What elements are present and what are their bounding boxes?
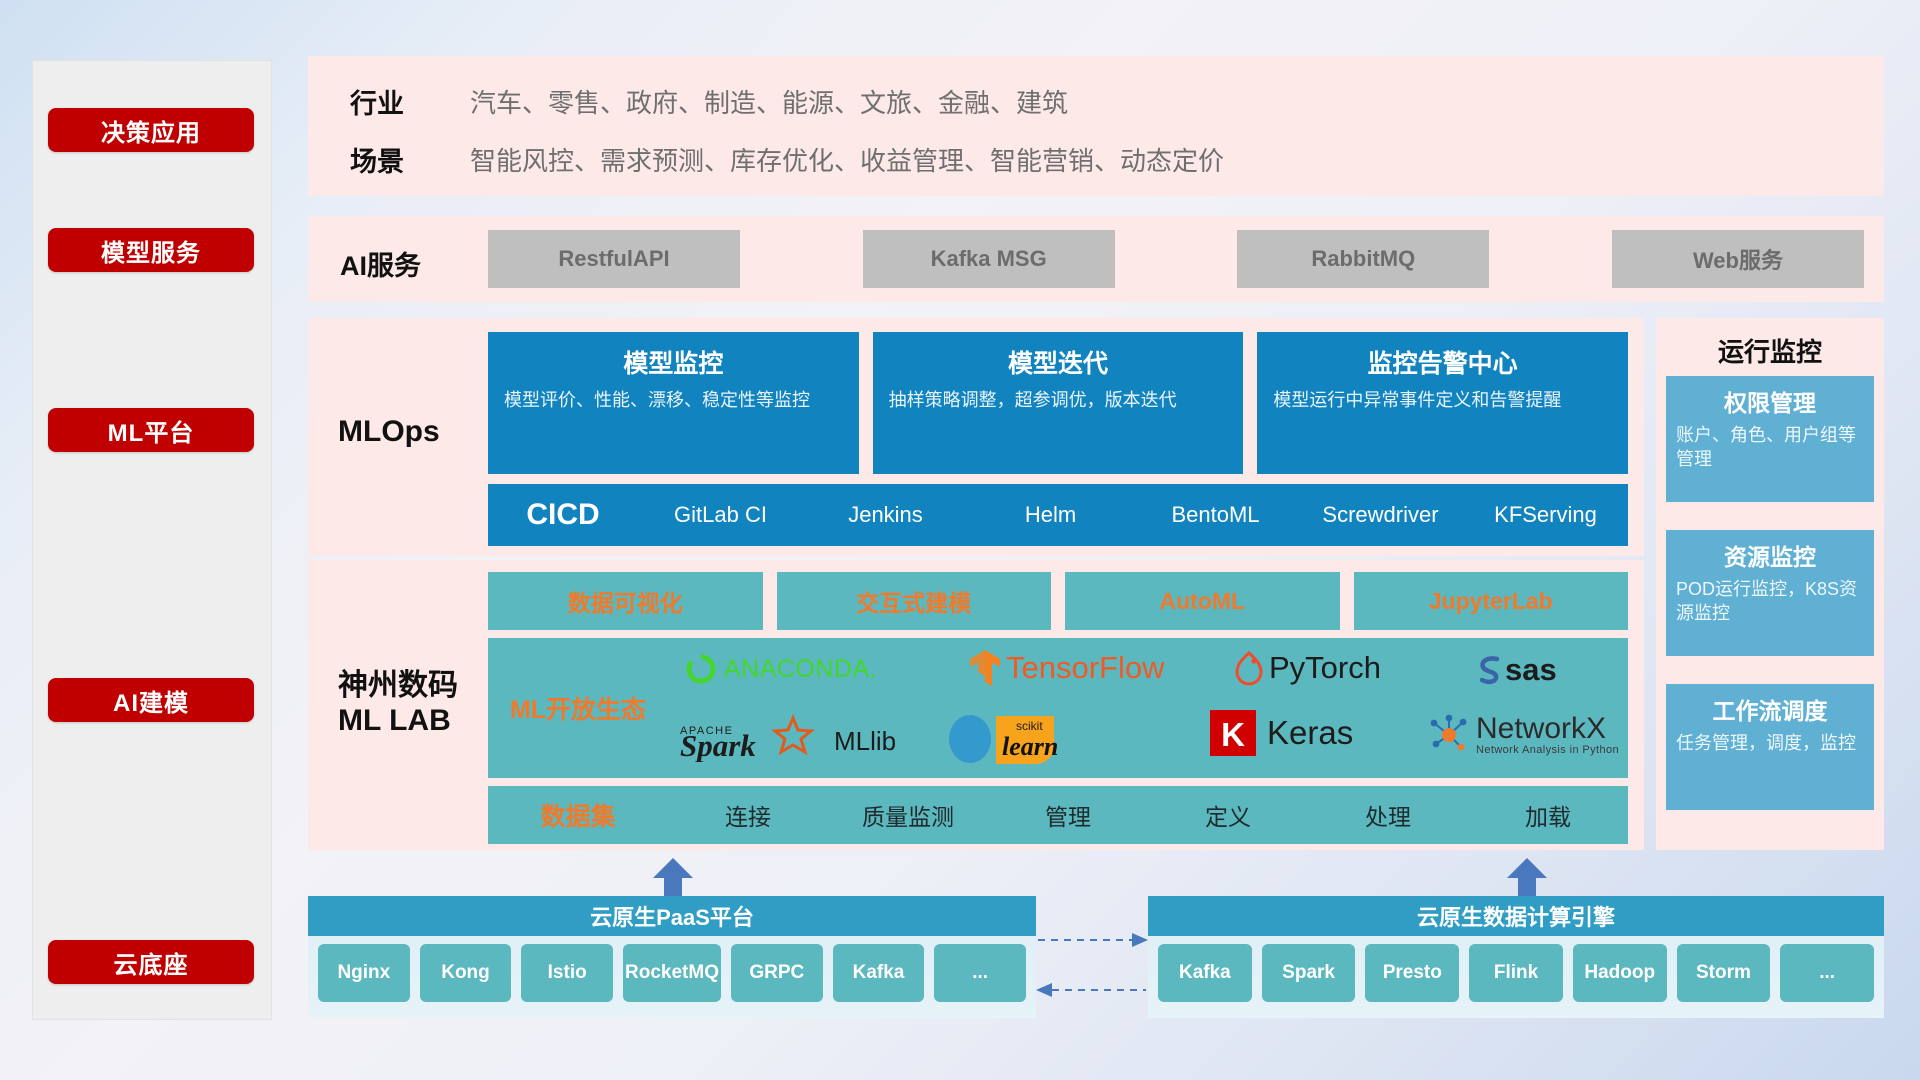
tool-chip-interactive-modeling[interactable]: 交互式建模 (777, 572, 1052, 630)
cicd-item-helm[interactable]: Helm (968, 503, 1133, 526)
sas-logo: sas (1474, 652, 1557, 688)
monitor-card-desc: POD运行监控，K8S资源监控 (1676, 578, 1864, 626)
pytorch-logo-text: PyTorch (1269, 650, 1381, 686)
svg-text:scikit: scikit (1016, 719, 1043, 733)
engine-chip-presto[interactable]: Presto (1365, 944, 1459, 1002)
monitor-card-workflow[interactable]: 工作流调度 任务管理，调度，监控 (1666, 684, 1874, 810)
cicd-title: CICD (488, 498, 638, 532)
anaconda-logo-text: ANACONDA (724, 655, 870, 684)
tensorflow-logo: TensorFlow (968, 648, 1165, 688)
dataset-item-quality-monitoring[interactable]: 质量监测 (828, 798, 988, 832)
ai-service-chip-kafka-msg[interactable]: Kafka MSG (863, 230, 1115, 288)
scenario-row: 场景 智能风控、需求预测、库存优化、收益管理、智能营销、动态定价 (350, 140, 1224, 179)
cicd-item-kfserving[interactable]: KFServing (1463, 503, 1628, 526)
dataset-item-process[interactable]: 处理 (1308, 798, 1468, 832)
ai-service-chip-list: RestfulAPI Kafka MSG RabbitMQ Web服务 (488, 230, 1864, 288)
ml-lab-section-label: 神州数码 ML LAB (338, 668, 458, 739)
networkx-logo-tagline: Network Analysis in Python (1476, 744, 1619, 756)
layer-chip-label: 云底座 (114, 945, 189, 980)
svg-text:learn: learn (1002, 732, 1058, 761)
sas-logo-text: sas (1505, 652, 1557, 688)
ml-lab-label-en: ML LAB (338, 703, 458, 738)
mlops-card-list: 模型监控 模型评价、性能、漂移、稳定性等监控 模型迭代 抽样策略调整，超参调优，… (488, 332, 1628, 474)
paas-chip-istio[interactable]: Istio (521, 944, 613, 1002)
industry-value: 汽车、零售、政府、制造、能源、文旅、金融、建筑 (470, 83, 1068, 120)
mlops-section-label: MLOps (338, 414, 440, 449)
cicd-item-screwdriver[interactable]: Screwdriver (1298, 503, 1463, 526)
paas-chip-grpc[interactable]: GRPC (731, 944, 823, 1002)
mlops-card-desc: 模型运行中异常事件定义和告警提醒 (1273, 388, 1612, 412)
engine-chip-list: Kafka Spark Presto Flink Hadoop Storm ..… (1158, 944, 1874, 1002)
dataset-item-load[interactable]: 加载 (1468, 798, 1628, 832)
svg-text:Spark: Spark (680, 728, 756, 762)
mlops-card-model-iteration[interactable]: 模型迭代 抽样策略调整，超参调优，版本迭代 (873, 332, 1244, 474)
layer-chip-label: ML平台 (108, 413, 195, 448)
scenario-value: 智能风控、需求预测、库存优化、收益管理、智能营销、动态定价 (470, 141, 1224, 178)
dataset-item-manage[interactable]: 管理 (988, 798, 1148, 832)
ml-lab-label-cn: 神州数码 (338, 668, 458, 703)
tensorflow-logo-text: TensorFlow (1006, 650, 1165, 686)
ai-service-chip-web-service[interactable]: Web服务 (1612, 230, 1864, 288)
ai-service-chip-rabbitmq[interactable]: RabbitMQ (1237, 230, 1489, 288)
cloud-native-paas-group: 云原生PaaS平台 Nginx Kong Istio RocketMQ GRPC… (308, 896, 1036, 1018)
mlops-card-title: 模型迭代 (889, 344, 1228, 380)
runtime-monitor-title: 运行监控 (1656, 332, 1884, 369)
cicd-item-jenkins[interactable]: Jenkins (803, 503, 968, 526)
engine-chip-flink[interactable]: Flink (1469, 944, 1563, 1002)
layer-chip-cloud-base[interactable]: 云底座 (48, 940, 254, 984)
engine-chip-kafka[interactable]: Kafka (1158, 944, 1252, 1002)
layer-rail (32, 60, 272, 1020)
cicd-item-gitlab-ci[interactable]: GitLab CI (638, 503, 803, 526)
tool-chip-automl[interactable]: AutoML (1065, 572, 1340, 630)
anaconda-logo: ANACONDA . (684, 652, 877, 686)
ml-lab-tool-list: 数据可视化 交互式建模 AutoML JupyterLab (488, 572, 1628, 630)
dataset-item-connect[interactable]: 连接 (668, 798, 828, 832)
layer-chip-label: AI建模 (113, 683, 189, 718)
paas-chip-nginx[interactable]: Nginx (318, 944, 410, 1002)
industry-key: 行业 (350, 82, 470, 121)
ai-service-chip-restfulapi[interactable]: RestfulAPI (488, 230, 740, 288)
dataset-item-define[interactable]: 定义 (1148, 798, 1308, 832)
monitor-card-resource[interactable]: 资源监控 POD运行监控，K8S资源监控 (1666, 530, 1874, 656)
ai-service-band: AI服务 RestfulAPI Kafka MSG RabbitMQ Web服务 (308, 216, 1884, 302)
ml-open-ecosystem-row: ML开放生态 ANACONDA . Te (488, 638, 1628, 778)
cloud-native-data-engine-title: 云原生数据计算引擎 (1148, 896, 1884, 936)
ml-lab-band: 神州数码 ML LAB 数据可视化 交互式建模 AutoML JupyterLa… (308, 560, 1644, 850)
engine-chip-storm[interactable]: Storm (1677, 944, 1771, 1002)
mlops-card-title: 监控告警中心 (1273, 344, 1612, 380)
cloud-link-arrows (1036, 928, 1148, 1004)
monitor-card-title: 权限管理 (1676, 384, 1864, 418)
layer-chip-model-service[interactable]: 模型服务 (48, 228, 254, 272)
mllib-logo-text: MLlib (834, 726, 896, 757)
networkx-logo-text: NetworkX (1476, 714, 1619, 744)
layer-chip-label: 模型服务 (101, 233, 201, 268)
layer-chip-ml-platform[interactable]: ML平台 (48, 408, 254, 452)
cloud-native-data-engine-group: 云原生数据计算引擎 Kafka Spark Presto Flink Hadoo… (1148, 896, 1884, 1018)
paas-chip-list: Nginx Kong Istio RocketMQ GRPC Kafka ... (318, 944, 1026, 1002)
keras-logo: K Keras (1208, 708, 1353, 758)
keras-logo-text: Keras (1267, 714, 1353, 752)
cicd-item-bentoml[interactable]: BentoML (1133, 503, 1298, 526)
monitor-card-desc: 账户、角色、用户组等管理 (1676, 424, 1864, 472)
scenario-key: 场景 (350, 140, 470, 179)
architecture-diagram: 决策应用 模型服务 ML平台 AI建模 云底座 行业 汽车、零售、政府、制造、能… (0, 0, 1920, 1080)
svg-text:K: K (1221, 716, 1245, 753)
ecosystem-logo-area: ANACONDA . TensorFlow (668, 638, 1628, 778)
paas-chip-rocketmq[interactable]: RocketMQ (623, 944, 721, 1002)
mlops-card-desc: 抽样策略调整，超参调优，版本迭代 (889, 388, 1228, 412)
cicd-bar: CICD GitLab CI Jenkins Helm BentoML Scre… (488, 484, 1628, 546)
mlops-band: MLOps 模型监控 模型评价、性能、漂移、稳定性等监控 模型迭代 抽样策略调整… (308, 318, 1644, 556)
engine-chip-more[interactable]: ... (1780, 944, 1874, 1002)
mlops-card-title: 模型监控 (504, 344, 843, 380)
layer-chip-ai-modeling[interactable]: AI建模 (48, 678, 254, 722)
layer-chip-label: 决策应用 (101, 113, 201, 148)
layer-chip-decision[interactable]: 决策应用 (48, 108, 254, 152)
ai-service-label: AI服务 (340, 244, 421, 283)
networkx-logo: NetworkX Network Analysis in Python (1428, 714, 1619, 756)
pytorch-logo: PyTorch (1234, 650, 1381, 686)
dataset-row: 数据集 连接 质量监测 管理 定义 处理 加载 (488, 786, 1628, 844)
mlops-card-model-monitoring[interactable]: 模型监控 模型评价、性能、漂移、稳定性等监控 (488, 332, 859, 474)
tool-chip-data-visualization[interactable]: 数据可视化 (488, 572, 763, 630)
industry-scenario-band: 行业 汽车、零售、政府、制造、能源、文旅、金融、建筑 场景 智能风控、需求预测、… (308, 56, 1884, 196)
tool-chip-jupyterlab[interactable]: JupyterLab (1354, 572, 1629, 630)
engine-chip-spark[interactable]: Spark (1262, 944, 1356, 1002)
paas-chip-more[interactable]: ... (934, 944, 1026, 1002)
industry-row: 行业 汽车、零售、政府、制造、能源、文旅、金融、建筑 (350, 82, 1068, 121)
monitor-card-desc: 任务管理，调度，监控 (1676, 732, 1864, 756)
scikit-learn-logo: scikit learn (946, 708, 1078, 766)
mlops-card-desc: 模型评价、性能、漂移、稳定性等监控 (504, 388, 843, 412)
monitor-card-title: 资源监控 (1676, 538, 1864, 572)
paas-chip-kong[interactable]: Kong (420, 944, 512, 1002)
dataset-title: 数据集 (488, 797, 668, 833)
spark-mllib-logo: APACHE Spark MLlib (680, 712, 896, 762)
monitor-card-title: 工作流调度 (1676, 692, 1864, 726)
cloud-native-paas-title: 云原生PaaS平台 (308, 896, 1036, 936)
runtime-monitor-column: 运行监控 权限管理 账户、角色、用户组等管理 资源监控 POD运行监控，K8S资… (1656, 318, 1884, 850)
paas-chip-kafka[interactable]: Kafka (833, 944, 925, 1002)
monitor-card-permission[interactable]: 权限管理 账户、角色、用户组等管理 (1666, 376, 1874, 502)
mlops-card-alert-center[interactable]: 监控告警中心 模型运行中异常事件定义和告警提醒 (1257, 332, 1628, 474)
ml-open-ecosystem-title: ML开放生态 (488, 690, 668, 726)
engine-chip-hadoop[interactable]: Hadoop (1573, 944, 1667, 1002)
